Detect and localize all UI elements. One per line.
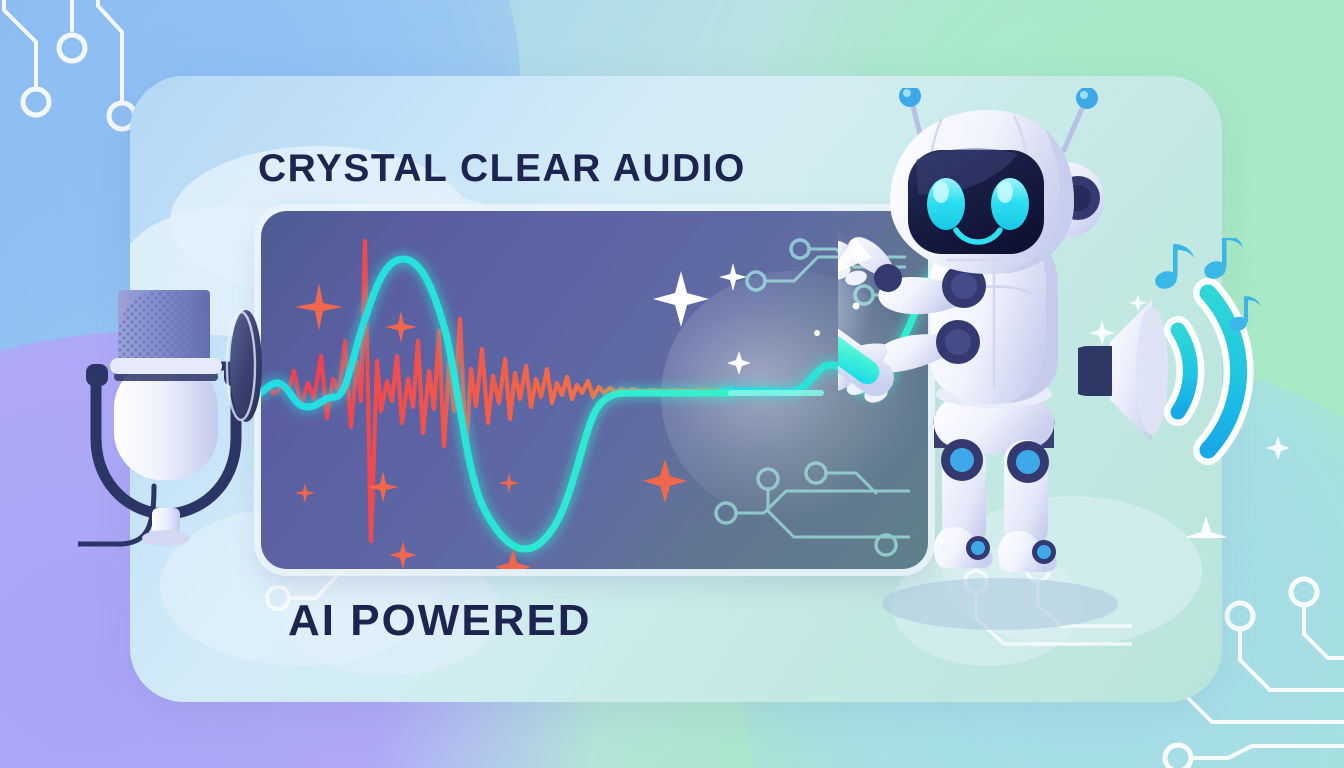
robot-shoulder-accent-upper	[951, 273, 977, 299]
music-note-icon	[1153, 244, 1194, 291]
sparkle-icon	[1185, 516, 1227, 538]
sparkle-icon	[653, 271, 709, 327]
mic-collar	[110, 358, 222, 374]
mic-base	[142, 530, 190, 546]
sparkle-icon	[389, 541, 417, 569]
sparkle-icon	[499, 473, 519, 493]
sparkle-clean-group	[653, 263, 820, 375]
robot-ankle-left-accent	[971, 541, 985, 555]
mic-pop-filter	[230, 310, 262, 422]
ai-robot-mascot	[838, 88, 1138, 648]
robot-shoulder-accent-lower	[945, 329, 971, 355]
sparkle-icon	[719, 263, 747, 291]
waveform-graphic	[261, 211, 928, 569]
sparkle-icon	[1266, 436, 1290, 460]
page-subtitle: AI POWERED	[288, 596, 592, 646]
sparkle-icon	[295, 283, 343, 331]
illustration-canvas: CRYSTAL CLEAR AUDIO AI POWERED	[0, 0, 1344, 768]
robot-eye-right-highlight	[997, 181, 1013, 203]
antenna-right-stem	[1064, 104, 1084, 150]
waveform-panel	[261, 211, 928, 569]
sparkle-icon	[385, 311, 417, 343]
sparkle-icon	[643, 459, 687, 503]
robot-shadow	[882, 578, 1118, 630]
robot-head	[890, 88, 1104, 274]
robot-legs	[934, 377, 1057, 572]
music-note-icon	[1202, 238, 1243, 281]
sparkle-dot	[814, 330, 820, 336]
robot-elbow-upper	[874, 264, 902, 292]
robot-eye-left-highlight	[933, 181, 949, 203]
sparkle-icon	[295, 483, 315, 503]
page-title: CRYSTAL CLEAR AUDIO	[258, 147, 746, 191]
sparkle-dot	[853, 303, 860, 310]
robot-knee-right-accent	[1016, 450, 1040, 474]
antenna-right-ball-hl	[1080, 91, 1088, 99]
mic-mount-knob-left	[86, 364, 108, 386]
speaker-cone-face	[1136, 307, 1168, 435]
antenna-left-ball-hl	[903, 89, 911, 97]
robot-ankle-right-accent	[1037, 545, 1051, 559]
robot-knee-left-accent	[950, 448, 974, 472]
sparkle-icon	[727, 351, 751, 375]
antenna-right-ball	[1076, 88, 1098, 109]
studio-microphone	[78, 276, 288, 576]
